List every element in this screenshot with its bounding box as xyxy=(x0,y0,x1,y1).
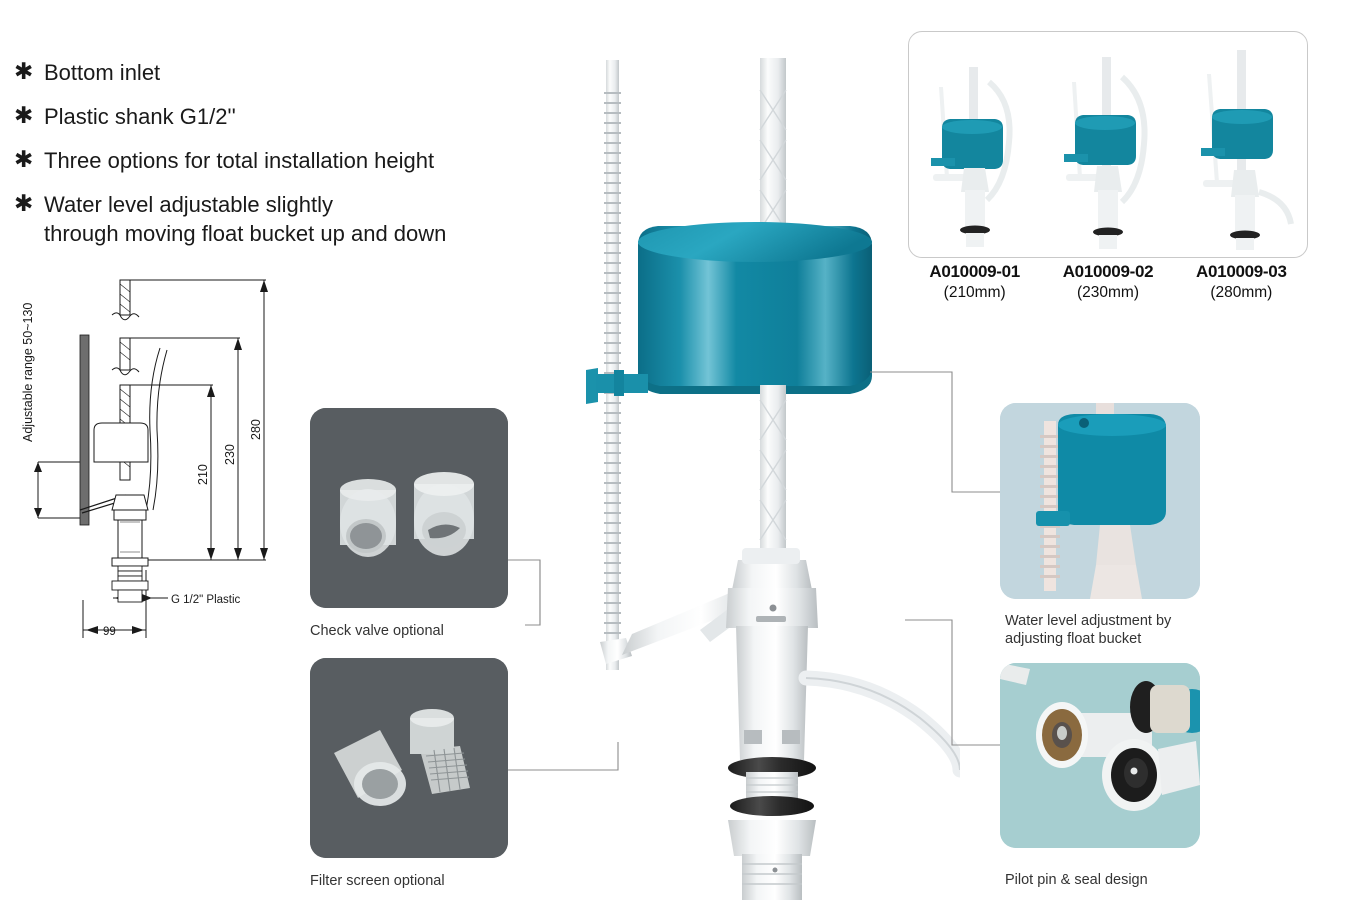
asterisk-bullet-icon: ✱ xyxy=(14,146,44,174)
variant-code: A010009-01 xyxy=(908,262,1041,282)
asterisk-bullet-icon: ✱ xyxy=(14,58,44,86)
variant-thumbnail-2 xyxy=(1042,32,1175,257)
technical-drawing: Adjustable range 50~130 210 230 280 G 1/… xyxy=(8,270,288,655)
variant-thumbnails-panel xyxy=(908,31,1308,258)
dimension-99-label: 99 xyxy=(103,626,116,638)
shank-assembly xyxy=(728,757,816,900)
filter-screen-caption: Filter screen optional xyxy=(310,872,540,890)
variant-thumbnail-1 xyxy=(909,32,1042,257)
thread-spec-label: G 1/2" Plastic xyxy=(171,594,241,606)
feature-text-second-line: through moving float bucket up and down xyxy=(44,219,446,248)
asterisk-bullet-icon: ✱ xyxy=(14,190,44,218)
feature-text: Water level adjustable slightly xyxy=(44,192,333,217)
adjustable-range-label: Adjustable range 50~130 xyxy=(21,303,35,442)
feature-item: ✱ Three options for total installation h… xyxy=(14,146,544,175)
feature-item: ✱ Bottom inlet xyxy=(14,58,544,87)
variant-size: (210mm) xyxy=(908,284,1041,302)
pilot-pin-caption: Pilot pin & seal design xyxy=(1005,871,1245,889)
water-level-caption-line1: Water level adjustment by xyxy=(1005,613,1171,629)
variant-code: A010009-03 xyxy=(1175,262,1308,282)
dimension-280-label: 280 xyxy=(249,419,263,440)
dimension-230-label: 230 xyxy=(223,444,237,465)
check-valve-photo xyxy=(310,408,508,608)
filter-screen-photo xyxy=(310,658,508,858)
check-valve-caption: Check valve optional xyxy=(310,622,540,640)
variant-thumbnail-3 xyxy=(1175,32,1308,257)
feature-item: ✱ Water level adjustable slightly throug… xyxy=(14,190,544,248)
dimension-210-label: 210 xyxy=(196,464,210,485)
variant-label-1: A010009-01 (210mm) xyxy=(908,262,1041,310)
float-bucket xyxy=(586,222,872,404)
variant-label-2: A010009-02 (230mm) xyxy=(1041,262,1174,310)
valve-barrel xyxy=(736,626,808,760)
variant-size: (230mm) xyxy=(1041,284,1174,302)
product-spec-sheet: ✱ Bottom inlet ✱ Plastic shank G1/2'' ✱ … xyxy=(0,0,1347,903)
feature-list: ✱ Bottom inlet ✱ Plastic shank G1/2'' ✱ … xyxy=(14,58,544,263)
variant-labels: A010009-01 (210mm) A010009-02 (230mm) A0… xyxy=(908,262,1308,310)
valve-head xyxy=(726,548,818,628)
adjustment-rod xyxy=(600,60,632,670)
water-level-photo xyxy=(1000,403,1200,599)
feature-item: ✱ Plastic shank G1/2'' xyxy=(14,102,544,131)
feature-text: Bottom inlet xyxy=(44,58,160,87)
water-level-caption-line2: adjusting float bucket xyxy=(1005,631,1141,647)
feature-text: Three options for total installation hei… xyxy=(44,146,434,175)
main-product-image xyxy=(560,30,960,900)
water-level-caption: Water level adjustment by adjusting floa… xyxy=(1005,612,1245,648)
pilot-pin-photo xyxy=(1000,663,1200,848)
feature-text: Plastic shank G1/2'' xyxy=(44,102,236,131)
variant-label-3: A010009-03 (280mm) xyxy=(1175,262,1308,310)
asterisk-bullet-icon: ✱ xyxy=(14,102,44,130)
variant-code: A010009-02 xyxy=(1041,262,1174,282)
variant-size: (280mm) xyxy=(1175,284,1308,302)
